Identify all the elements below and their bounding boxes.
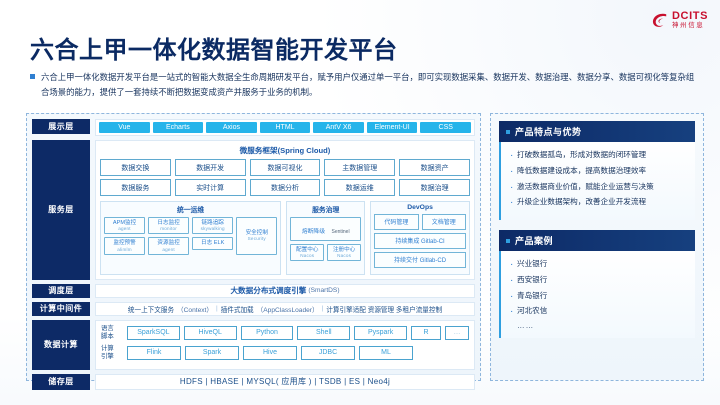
ops-cell-en: skywalking [194, 226, 231, 231]
bullet-square-icon [506, 130, 510, 134]
ops-cell[interactable]: 日志 ELK [192, 237, 233, 249]
compute-script-more[interactable]: … [445, 326, 469, 340]
brand-name-en: DCITS [672, 11, 708, 22]
service-module[interactable]: 实时计算 [175, 179, 246, 196]
devops-cell[interactable]: 文档管理 [422, 214, 466, 230]
compute-engines-label-line2: 引擎 [101, 353, 114, 360]
gov-cell-cn: 配置中心 [292, 247, 322, 253]
brand-name-cn: 神州信息 [672, 23, 708, 30]
panel-unified-ops: 统一运维 APM监控 agent 监控预警 alimlm [100, 201, 281, 275]
gov-cell[interactable]: 配置中心 Nacos [290, 244, 324, 262]
devops-bar[interactable]: 持续交付 Gitlab-CD [374, 252, 466, 268]
panel-service-governance: 服务治理 熔断降级 Sentinel 配置中心 Nacos 注册中心 [286, 201, 365, 275]
tech-tag[interactable]: Element-UI [367, 122, 418, 133]
gov-cell-cn: 注册中心 [329, 247, 359, 253]
service-module-row: 数据交换 数据开发 数据可视化 主数据管理 数据资产 [100, 159, 470, 176]
list-item: 激活数据商业价值，赋能企业运营与决策 [509, 181, 687, 193]
service-module-row: 数据服务 实时计算 数据分析 数据运维 数据治理 [100, 179, 470, 196]
compute-script[interactable]: Pyspark [354, 326, 407, 340]
list-item: 打破数据孤岛，形成对数据的闭环管理 [509, 149, 687, 161]
compute-engine[interactable]: JDBC [301, 346, 355, 360]
tech-tag[interactable]: CSS [420, 122, 471, 133]
layer-schedule: 调度层 大数据分布式调度引擎 (SmartDS) [32, 284, 475, 298]
compute-engine[interactable]: ML [359, 346, 413, 360]
ops-column: 链路追踪 skywalking 日志 ELK [192, 217, 233, 255]
service-sub-panels: 统一运维 APM监控 agent 监控预警 alimlm [100, 201, 470, 275]
devops-cell-row: 代码管理 文档管理 [374, 214, 466, 230]
tech-tag[interactable]: Axios [206, 122, 257, 133]
ops-cell-grid: APM监控 agent 监控预警 alimlm 日志监控 [104, 217, 277, 255]
ops-cell-en: agent [150, 247, 187, 252]
brand-logo-text: DCITS 神州信息 [672, 11, 708, 30]
layer-label-middleware: 计算中间件 [32, 302, 90, 316]
ops-column: APM监控 agent 监控预警 alimlm [104, 217, 145, 255]
layer-storage: 储存层 HDFS | HBASE | MYSQL( 应用库 ) | TSDB |… [32, 374, 475, 390]
separator: | [322, 305, 324, 312]
layer-label-compute-line2: 计算 [61, 340, 78, 350]
compute-engines-label: 计算 引擎 [101, 345, 123, 361]
ops-cell[interactable]: 监控预警 alimlm [104, 237, 145, 255]
middleware-item-list: 统一上下文服务 （Context） | 插件式加载 （AppClassLoade… [96, 303, 474, 315]
compute-engine[interactable]: Spark [185, 346, 239, 360]
ops-cell-en: Security [238, 236, 275, 241]
tech-tag[interactable]: HTML [260, 122, 311, 133]
compute-body: 语言 脚本 SparkSQL HiveQL Python Shell Pyspa… [95, 320, 475, 370]
compute-script-cells: SparkSQL HiveQL Python Shell Pyspark R … [127, 326, 469, 340]
list-item: 降低数据建设成本，提高数据治理效率 [509, 165, 687, 177]
ops-cell-en: alimlm [106, 247, 143, 252]
layer-label-presentation: 展示层 [32, 119, 90, 134]
layer-label-schedule: 调度层 [32, 284, 90, 298]
card-cases: 产品案例 兴业银行 西安银行 青岛银行 河北农信 …… [499, 230, 695, 338]
card-title-cases: 产品案例 [515, 234, 553, 247]
middleware-item: 统一上下文服务 [128, 304, 174, 314]
list-item: 西安银行 [509, 274, 687, 286]
card-body-cases: 兴业银行 西安银行 青岛银行 河北农信 …… [499, 251, 695, 338]
bullet-square-icon [506, 239, 510, 243]
gov-cell-en: Nacos [329, 253, 359, 258]
schedule-engine-en: (SmartDS) [308, 287, 339, 294]
service-module[interactable]: 数据治理 [399, 179, 470, 196]
layer-compute: 数据 计算 语言 脚本 SparkSQL HiveQL Python Shell… [32, 320, 475, 370]
case-list: 兴业银行 西安银行 青岛银行 河北农信 [509, 258, 687, 317]
layer-middleware: 计算中间件 统一上下文服务 （Context） | 插件式加载 （AppClas… [32, 302, 475, 316]
list-item: 河北农信 [509, 305, 687, 317]
gov-top-en: Sentinel [331, 229, 349, 235]
compute-scripts-label-line1: 语言 [101, 325, 114, 332]
list-item: 兴业银行 [509, 258, 687, 270]
service-module[interactable]: 数据开发 [175, 159, 246, 176]
gov-cell[interactable]: 注册中心 Nacos [327, 244, 361, 262]
schedule-engine-title: 大数据分布式调度引擎 (SmartDS) [96, 285, 474, 297]
panel-title-devops: DevOps [374, 204, 466, 211]
intro-text: 六合上甲一体化数据开发平台是一站式的智能大数据全生命周期研发平台，赋予用户仅通过… [41, 70, 702, 99]
card-title-advantages: 产品特点与优势 [515, 125, 582, 138]
intro-paragraph: 六合上甲一体化数据开发平台是一站式的智能大数据全生命周期研发平台，赋予用户仅通过… [30, 70, 702, 99]
slide-page: DCITS 神州信息 六合上甲一体化数据智能开发平台 六合上甲一体化数据开发平台… [0, 0, 720, 405]
service-module[interactable]: 数据运维 [324, 179, 395, 196]
tech-tag[interactable]: Echarts [153, 122, 204, 133]
ops-cell[interactable]: 资源监控 agent [148, 237, 189, 255]
storage-body: HDFS | HBASE | MYSQL( 应用库 ) | TSDB | ES … [95, 374, 475, 390]
panel-title-unified-ops: 统一运维 [104, 204, 277, 214]
layer-label-compute: 数据 计算 [32, 320, 90, 370]
gov-top-cell[interactable]: 熔断降级 Sentinel [290, 217, 361, 241]
ops-cell[interactable]: 安全控制 Security [236, 217, 277, 255]
layer-label-storage: 储存层 [32, 374, 90, 390]
compute-scripts-label-line2: 脚本 [101, 333, 114, 340]
gov-cell-row: 配置中心 Nacos 注册中心 Nacos [290, 244, 361, 262]
page-title: 六合上甲一体化数据智能开发平台 [30, 30, 398, 65]
bullet-square-icon [30, 74, 35, 79]
card-header-cases: 产品案例 [499, 230, 695, 251]
service-module-grid: 数据交换 数据开发 数据可视化 主数据管理 数据资产 数据服务 实时计算 数据分… [100, 159, 470, 196]
service-module[interactable]: 数据资产 [399, 159, 470, 176]
tech-tag[interactable]: Vue [99, 122, 150, 133]
compute-script[interactable]: HiveQL [184, 326, 237, 340]
schedule-engine-cn: 大数据分布式调度引擎 [230, 285, 306, 296]
layer-label-compute-line1: 数据 [44, 340, 61, 350]
service-body: 微服务框架(Spring Cloud) 数据交换 数据开发 数据可视化 主数据管… [95, 140, 475, 280]
ops-cell-en: agent [106, 226, 143, 231]
compute-engine[interactable]: Flink [127, 346, 181, 360]
compute-script[interactable]: SparkSQL [127, 326, 180, 340]
compute-engine-spacer [417, 346, 469, 360]
ops-cell-en: monitor [150, 226, 187, 231]
layer-label-service: 服务层 [32, 140, 90, 280]
ops-column: 安全控制 Security [236, 217, 277, 255]
middleware-item-en: （Context） [177, 304, 213, 314]
ops-cell-cn: 日志 ELK [194, 240, 231, 246]
layer-service: 服务层 微服务框架(Spring Cloud) 数据交换 数据开发 数据可视化 … [32, 140, 475, 280]
ops-cell[interactable]: APM监控 agent [104, 217, 145, 235]
dcits-swoosh-icon [651, 12, 668, 29]
compute-engine[interactable]: Hive [243, 346, 297, 360]
list-item: 升级企业数据架构，改善企业开发流程 [509, 196, 687, 208]
case-list-more: …… [509, 321, 687, 330]
ops-column: 日志监控 monitor 资源监控 agent [148, 217, 189, 255]
storage-item-list: HDFS | HBASE | MYSQL( 应用库 ) | TSDB | ES … [96, 375, 474, 389]
card-body-advantages: 打破数据孤岛，形成对数据的闭环管理 降低数据建设成本，提高数据治理效率 激活数据… [499, 142, 695, 220]
card-advantages: 产品特点与优势 打破数据孤岛，形成对数据的闭环管理 降低数据建设成本，提高数据治… [499, 121, 695, 220]
devops-bar[interactable]: 持续集成 Gitlab-CI [374, 233, 466, 249]
service-module[interactable]: 数据可视化 [250, 159, 321, 176]
ops-cell[interactable]: 链路追踪 skywalking [192, 217, 233, 235]
service-module[interactable]: 数据服务 [100, 179, 171, 196]
list-item: 青岛银行 [509, 290, 687, 302]
tech-tag-list: Vue Echarts Axios HTML AntV X6 Element-U… [96, 120, 474, 135]
panel-title-service-governance: 服务治理 [290, 204, 361, 214]
architecture-diagram: 展示层 Vue Echarts Axios HTML AntV X6 Eleme… [26, 113, 481, 381]
service-module[interactable]: 数据分析 [250, 179, 321, 196]
compute-engines-label-line1: 计算 [101, 345, 114, 352]
tech-tag[interactable]: AntV X6 [313, 122, 364, 133]
compute-engines-row: 计算 引擎 Flink Spark Hive JDBC ML [101, 345, 469, 361]
gov-top-cn: 熔断降级 [302, 229, 325, 235]
advantage-list: 打破数据孤岛，形成对数据的闭环管理 降低数据建设成本，提高数据治理效率 激活数据… [509, 149, 687, 208]
compute-script[interactable]: Shell [297, 326, 350, 340]
card-header-advantages: 产品特点与优势 [499, 121, 695, 142]
compute-script[interactable]: Python [241, 326, 294, 340]
ops-cell[interactable]: 日志监控 monitor [148, 217, 189, 235]
microservice-framework-title: 微服务框架(Spring Cloud) [100, 145, 470, 156]
middleware-body: 统一上下文服务 （Context） | 插件式加载 （AppClassLoade… [95, 302, 475, 316]
compute-scripts-row: 语言 脚本 SparkSQL HiveQL Python Shell Pyspa… [101, 325, 469, 341]
layer-presentation: 展示层 Vue Echarts Axios HTML AntV X6 Eleme… [32, 119, 475, 136]
schedule-body: 大数据分布式调度引擎 (SmartDS) [95, 284, 475, 298]
gov-cell-en: Nacos [292, 253, 322, 258]
presentation-body: Vue Echarts Axios HTML AntV X6 Element-U… [95, 119, 475, 136]
devops-cell[interactable]: 代码管理 [374, 214, 418, 230]
brand-logo: DCITS 神州信息 [651, 11, 708, 30]
middleware-item-en: （AppClassLoader） [257, 304, 319, 314]
compute-scripts-label: 语言 脚本 [101, 325, 123, 341]
middleware-item: 计算引擎适配 资源管理 多租户流量控制 [326, 304, 442, 314]
compute-engine-cells: Flink Spark Hive JDBC ML [127, 346, 469, 360]
sidebar-panel: 产品特点与优势 打破数据孤岛，形成对数据的闭环管理 降低数据建设成本，提高数据治… [490, 113, 704, 381]
panel-devops: DevOps 代码管理 文档管理 持续集成 Gitlab-CI 持续交付 Git… [370, 201, 470, 275]
separator: | [216, 305, 218, 312]
service-module[interactable]: 主数据管理 [324, 159, 395, 176]
compute-script[interactable]: R [411, 326, 441, 340]
service-module[interactable]: 数据交换 [100, 159, 171, 176]
middleware-item: 插件式加载 [221, 304, 254, 314]
